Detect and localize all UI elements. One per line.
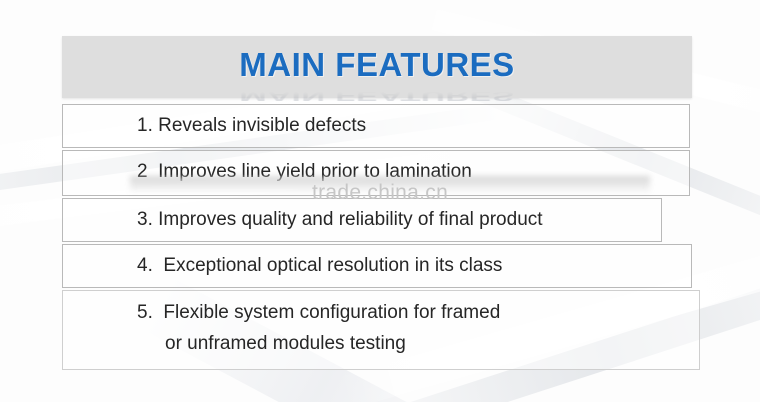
feature-item-4: 4. Exceptional optical resolution in its… — [137, 252, 502, 280]
features-slide: MAIN FEATURES MAIN FEATURES 1. Reveals i… — [0, 0, 760, 402]
feature-item-5-line-2: or unframed modules testing — [165, 330, 406, 358]
page-title: MAIN FEATURES — [62, 46, 692, 84]
feature-item-2: 2 Improves line yield prior to laminatio… — [137, 158, 472, 186]
feature-item-3: 3. Improves quality and reliability of f… — [137, 206, 543, 234]
feature-item-5-line-1: 5. Flexible system configuration for fra… — [137, 299, 500, 327]
feature-item-1: 1. Reveals invisible defects — [137, 112, 366, 140]
